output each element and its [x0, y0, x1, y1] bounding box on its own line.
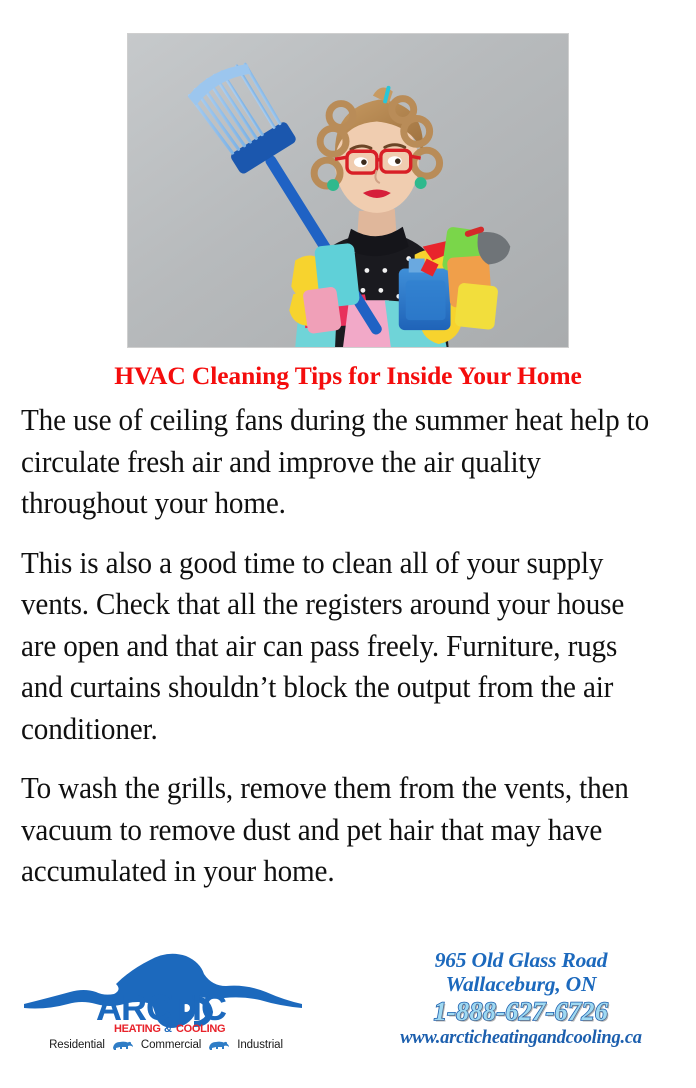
article-body: The use of ceiling fans during the summe… — [21, 400, 679, 893]
service-types-row: Residential Commercial Industrial — [28, 1038, 304, 1051]
polar-bear-icon — [111, 1038, 135, 1051]
flyer-page: HVAC Cleaning Tips for Inside Your Home … — [0, 0, 696, 1088]
logo-tagline-heating: HEATING — [114, 1023, 161, 1035]
logo-tagline-amp: & — [164, 1023, 172, 1035]
arctic-logo-mark: ARCTIC HEATING & COOLING — [18, 942, 308, 1037]
service-commercial: Commercial — [141, 1039, 201, 1051]
address-line-1: 965 Old Glass Road — [356, 948, 686, 972]
paragraph-1: The use of ceiling fans during the summe… — [21, 400, 649, 525]
footer: ARCTIC HEATING & COOLING Residential Com… — [0, 930, 696, 1088]
company-logo[interactable]: ARCTIC HEATING & COOLING Residential Com… — [18, 942, 308, 1062]
hero-photo — [127, 33, 569, 348]
logo-tagline-cooling: COOLING — [176, 1023, 225, 1035]
service-industrial: Industrial — [237, 1039, 283, 1051]
website-url[interactable]: www.arcticheatingandcooling.ca — [356, 1027, 686, 1049]
address-line-2: Wallaceburg, ON — [356, 972, 686, 997]
polar-bear-icon — [207, 1038, 231, 1051]
phone-number[interactable]: 1-888-627-6726 — [356, 997, 686, 1027]
contact-info: 965 Old Glass Road Wallaceburg, ON 1-888… — [356, 948, 686, 1049]
service-residential: Residential — [49, 1039, 105, 1051]
logo-brand-text: ARCTIC — [96, 987, 227, 1028]
hero-photo-illustration — [128, 34, 568, 347]
paragraph-3: To wash the grills, remove them from the… — [21, 768, 649, 893]
page-title: HVAC Cleaning Tips for Inside Your Home — [0, 362, 696, 390]
paragraph-2: This is also a good time to clean all of… — [21, 543, 649, 751]
